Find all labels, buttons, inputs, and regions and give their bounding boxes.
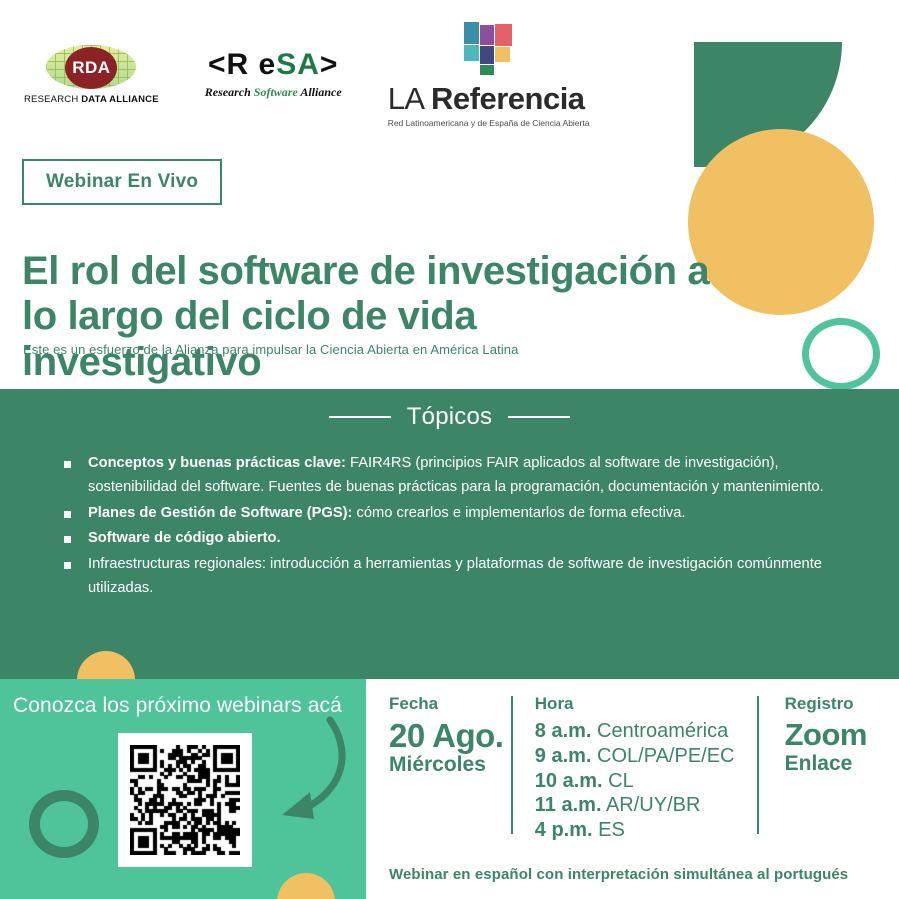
curved-arrow-icon <box>268 714 378 834</box>
logo-row: RDA RESEARCH DATA ALLIANCE <R eSA> Resea… <box>24 44 589 106</box>
fecha-label: Fecha <box>389 694 511 714</box>
bullet-square-icon <box>64 511 71 518</box>
rda-globe-icon: RDA <box>32 45 150 91</box>
webinar-poster: RDA RESEARCH DATA ALLIANCE <R eSA> Resea… <box>0 0 899 899</box>
time-row: 8 a.m. Centroamérica <box>535 719 757 744</box>
resa-tagline: Research Software Alliance <box>205 85 342 100</box>
registro-label: Registro <box>785 694 889 714</box>
enlace-link[interactable]: Enlace <box>785 751 889 776</box>
la-referencia-blocks-icon <box>464 22 514 74</box>
info-column-registro: Registro Zoom Enlace <box>757 694 889 843</box>
topics-list: Conceptos y buenas prácticas clave: FAIR… <box>62 452 832 603</box>
list-item: Software de código abierto. <box>62 527 832 551</box>
footnote: Webinar en español con interpretación si… <box>389 866 848 883</box>
time-row: 4 p.m. ES <box>535 818 757 843</box>
page-subtitle: Este es un esfuerzo de la Alianza para i… <box>23 342 518 357</box>
ring-teal-decor <box>802 318 880 390</box>
list-item-text: Infraestructuras regionales: introducció… <box>88 556 822 596</box>
list-item-bold: Conceptos y buenas prácticas clave: <box>88 455 346 471</box>
resa-wordmark: <R eSA> <box>208 50 338 80</box>
webinar-live-badge: Webinar En Vivo <box>22 159 222 205</box>
time-value: 4 p.m. <box>535 819 593 841</box>
divider-vertical <box>511 696 513 834</box>
bullet-square-icon <box>64 461 71 468</box>
topics-heading-label: Tópicos <box>407 403 492 431</box>
list-item: Conceptos y buenas prácticas clave: FAIR… <box>62 452 832 500</box>
event-weekday: Miércoles <box>389 753 511 777</box>
topics-panel: Tópicos Conceptos y buenas prácticas cla… <box>0 389 899 679</box>
divider-vertical <box>757 696 759 834</box>
divider-left <box>329 416 391 418</box>
time-zone: ES <box>593 819 625 841</box>
event-date: 20 Ago. <box>389 719 511 753</box>
divider-right <box>508 416 570 418</box>
time-value: 8 a.m. <box>535 720 592 742</box>
time-value: 9 a.m. <box>535 745 592 767</box>
list-item-text: cómo crearlos e implementarlos de forma … <box>352 505 685 521</box>
hora-label: Hora <box>535 694 757 714</box>
event-info: Fecha 20 Ago. Miércoles Hora 8 a.m. Cent… <box>389 694 889 843</box>
page-title: El rol del software de investigación a l… <box>22 249 722 386</box>
list-item: Planes de Gestión de Software (PGS): cóm… <box>62 502 832 526</box>
time-zone: AR/UY/BR <box>602 794 701 816</box>
time-row: 11 a.m. AR/UY/BR <box>535 793 757 818</box>
bullet-square-icon <box>64 536 71 543</box>
bullet-square-icon <box>64 562 71 569</box>
time-zone: Centroamérica <box>591 720 728 742</box>
time-zone: CL <box>603 770 634 792</box>
time-zone: COL/PA/PE/EC <box>591 745 734 767</box>
info-column-fecha: Fecha 20 Ago. Miércoles <box>389 694 511 843</box>
qr-code-image <box>130 745 240 855</box>
topics-heading: Tópicos <box>0 403 899 431</box>
time-row: 10 a.m. CL <box>535 769 757 794</box>
time-value: 11 a.m. <box>535 794 602 816</box>
info-column-hora: Hora 8 a.m. Centroamérica 9 a.m. COL/PA/… <box>511 694 757 843</box>
list-item-bold: Planes de Gestión de Software (PGS): <box>88 505 352 521</box>
list-item-bold: Software de código abierto. <box>88 530 281 546</box>
zoom-link[interactable]: Zoom <box>785 719 889 751</box>
la-referencia-title: LA Referencia <box>388 83 590 114</box>
logo-la-referencia: LA Referencia Red Latinoamericana y de E… <box>388 22 590 128</box>
list-item: Infraestructuras regionales: introducció… <box>62 553 832 601</box>
time-row: 9 a.m. COL/PA/PE/EC <box>535 744 757 769</box>
time-value: 10 a.m. <box>535 770 603 792</box>
la-referencia-tagline: Red Latinoamericana y de España de Cienc… <box>388 118 590 128</box>
qr-code[interactable] <box>118 733 252 867</box>
ring-green-decor <box>29 790 99 858</box>
logo-rda: RDA RESEARCH DATA ALLIANCE <box>24 45 159 105</box>
logo-resa: <R eSA> Research Software Alliance <box>205 50 342 100</box>
rda-tagline: RESEARCH DATA ALLIANCE <box>24 94 159 105</box>
rda-mark-label: RDA <box>65 47 117 89</box>
